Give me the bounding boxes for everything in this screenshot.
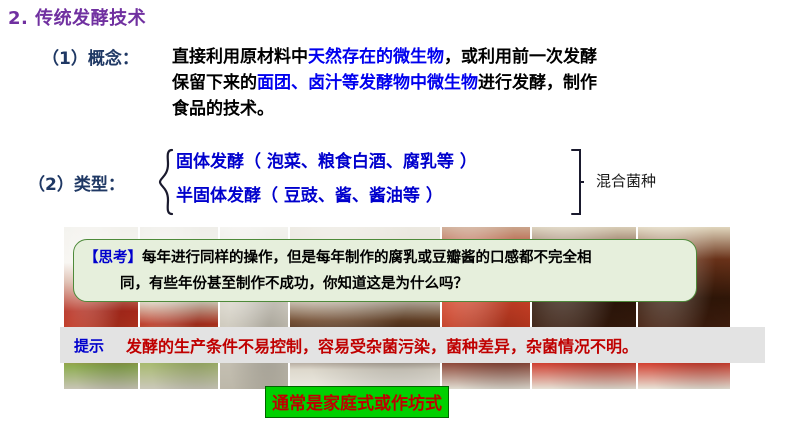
concept-line1-pre: 直接利用原材料中: [172, 47, 308, 67]
mixed-strain-label: 混合菌种: [596, 170, 656, 191]
think-line2: 同，有些年份甚至制作不成功，你知道这是为什么吗？: [84, 271, 684, 297]
concept-line2-pre: 保留下来的: [172, 73, 257, 93]
hint-band: 提示 发酵的生产条件不易控制，容易受杂菌污染，菌种差异，杂菌情况不明。: [60, 327, 765, 363]
concept-line2-highlight: 面团、卤汁等发酵物中微生物: [257, 73, 478, 93]
hint-text: 发酵的生产条件不易控制，容易受杂菌污染，菌种差异，杂菌情况不明。: [126, 333, 638, 357]
type-item-list: 固体发酵（ 泡菜、粮食白酒、腐乳等 ） 半固体发酵（ 豆豉、酱、酱油等 ）: [176, 148, 576, 216]
footer-note: 通常是家庭式或作坊式: [265, 386, 449, 418]
concept-line1-post: ，或利用前一次发酵: [444, 47, 597, 67]
think-callout: 【思考】每年进行同样的操作，但是每年制作的腐乳或豆瓣酱的口感都不完全相 同，有些…: [73, 239, 697, 302]
concept-line2-post: 进行发酵，制作: [478, 73, 597, 93]
concept-label: （1）概念：: [42, 44, 139, 69]
left-brace-icon: [158, 148, 174, 216]
type-item-solid: 固体发酵（ 泡菜、粮食白酒、腐乳等 ）: [176, 148, 576, 182]
concept-line1-highlight: 天然存在的微生物: [308, 47, 444, 67]
type-label: （2）类型：: [28, 170, 125, 195]
hint-label: 提示: [74, 335, 104, 356]
think-line1: 每年进行同样的操作，但是每年制作的腐乳或豆瓣酱的口感都不完全相: [142, 250, 592, 266]
right-brace-icon: [570, 148, 584, 216]
think-text: 【思考】每年进行同样的操作，但是每年制作的腐乳或豆瓣酱的口感都不完全相 同，有些…: [84, 245, 684, 297]
think-tag: 【思考】: [84, 250, 142, 266]
type-item-semisolid: 半固体发酵（ 豆豉、酱、酱油等 ）: [176, 182, 576, 216]
concept-body: 直接利用原材料中天然存在的微生物，或利用前一次发酵 保留下来的面团、卤汁等发酵物…: [172, 44, 782, 122]
page-title: 2. 传统发酵技术: [8, 4, 146, 30]
concept-line3: 食品的技术。: [172, 99, 274, 119]
slide-canvas: 2. 传统发酵技术 （1）概念： 直接利用原材料中天然存在的微生物，或利用前一次…: [0, 0, 794, 447]
